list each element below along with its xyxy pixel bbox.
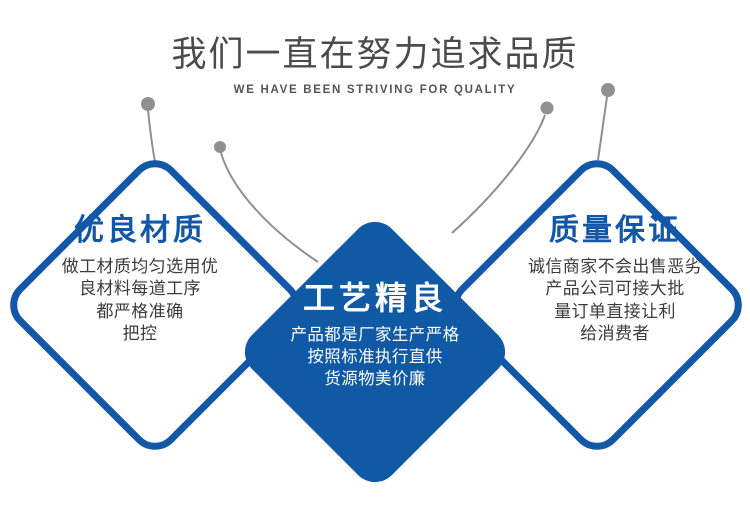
diamond-shape-right[interactable] (441, 149, 750, 460)
heading-block: 我们一直在努力追求品质 WE HAVE BEEN STRIVING FOR QU… (0, 36, 750, 96)
promo-banner: 我们一直在努力追求品质 WE HAVE BEEN STRIVING FOR QU… (0, 0, 750, 521)
page-title: 我们一直在努力追求品质 (0, 36, 750, 75)
diamond-shape-center[interactable] (235, 212, 515, 492)
page-subtitle: WE HAVE BEEN STRIVING FOR QUALITY (0, 84, 750, 96)
diamond-shape-left[interactable] (0, 149, 311, 460)
